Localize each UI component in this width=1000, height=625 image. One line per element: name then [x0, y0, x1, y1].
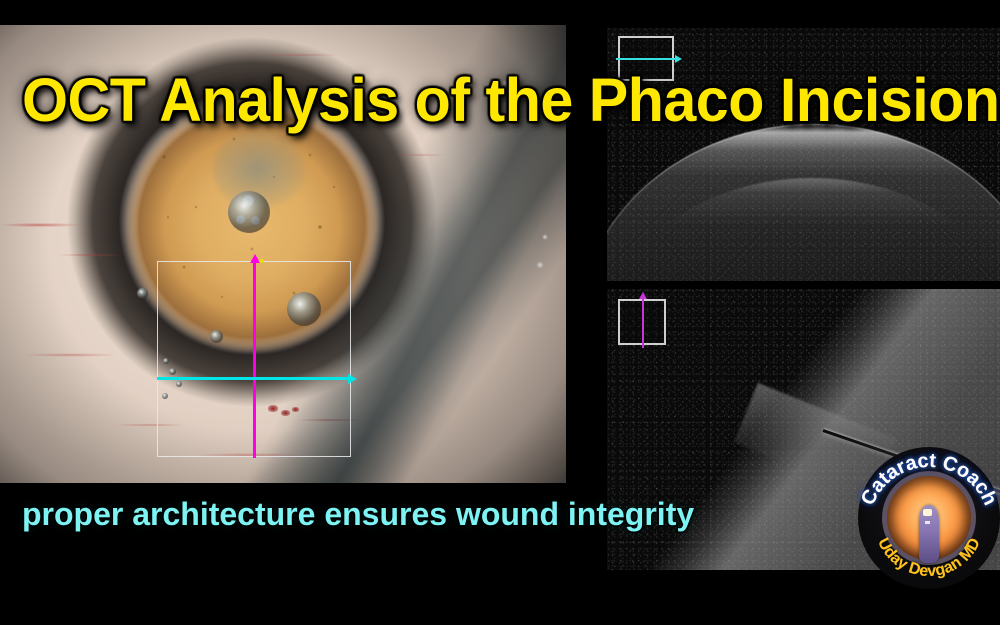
vertical-scan-arrow[interactable]	[253, 261, 256, 458]
slide-canvas: OCT Analysis of the Phaco Incision prope…	[0, 0, 1000, 625]
bubble	[137, 288, 148, 299]
logo-bottom-text: Uday Devgan MD	[874, 535, 984, 580]
page-title: OCT Analysis of the Phaco Incision	[22, 70, 958, 131]
arrow-head-right-icon	[348, 374, 357, 384]
arrow-head-up-icon	[250, 254, 260, 263]
locator-arrow-right	[616, 58, 676, 60]
scan-origin-marker	[260, 259, 264, 263]
page-subtitle: proper architecture ensures wound integr…	[22, 498, 694, 530]
horizontal-scan-arrow[interactable]	[157, 377, 350, 380]
light-reflex-ring	[228, 191, 270, 233]
logo-bottom-arc-text: Uday Devgan MD	[858, 447, 1000, 589]
arrow-head-right-icon	[675, 55, 682, 63]
locator-arrow-up	[642, 298, 644, 348]
cataract-coach-logo[interactable]: Cataract Coach Uday Devgan MD	[858, 447, 1000, 589]
oct-locator-box-vertical[interactable]	[618, 299, 666, 345]
arrow-head-up-icon	[639, 292, 647, 299]
